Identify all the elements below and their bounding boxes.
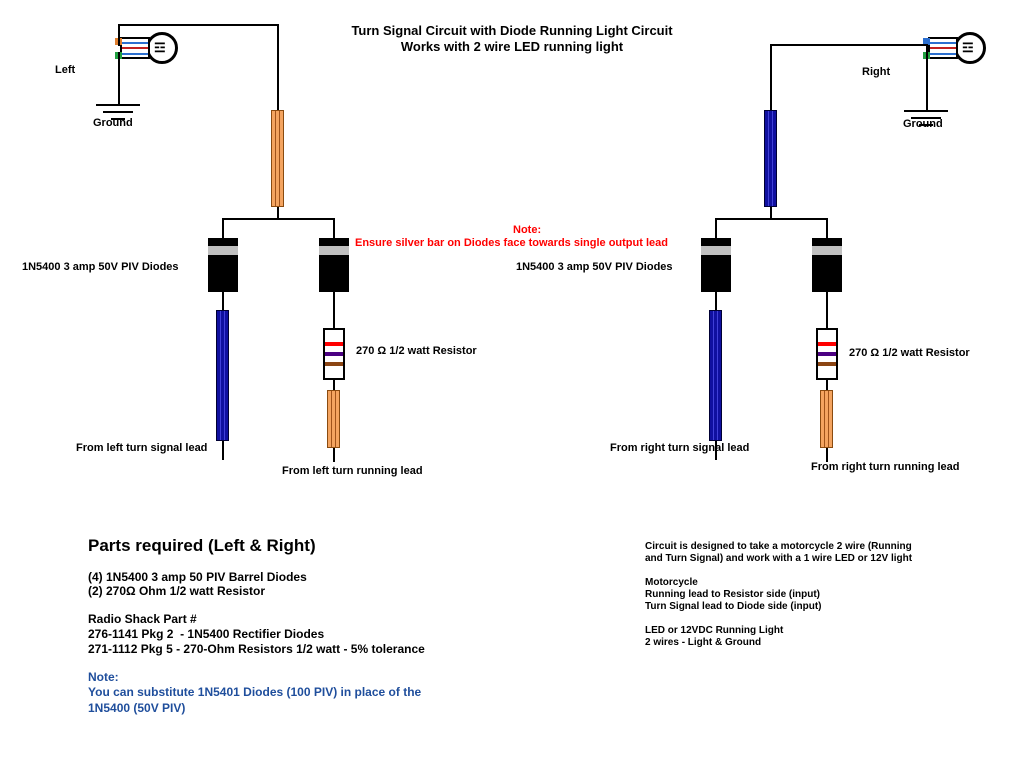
right-resistor-band-red	[818, 342, 836, 346]
right-diode-b-leg-wire	[826, 218, 828, 238]
right-output-blue-sleeve	[764, 110, 777, 207]
info-motorcycle-heading: Motorcycle	[645, 577, 698, 589]
left-running-orange-sleeve	[327, 390, 340, 448]
left-diode-label: 1N5400 3 amp 50V PIV Diodes	[22, 261, 179, 274]
circuit-diagram-canvas: Turn Signal Circuit with Diode Running L…	[0, 0, 1024, 768]
left-ground-symbol-bar-2	[103, 111, 133, 113]
right-resistor-icon	[816, 328, 838, 380]
left-lamp-stripe-red	[122, 47, 148, 49]
right-top-horizontal-wire	[770, 44, 928, 46]
left-ground-wire	[118, 52, 120, 104]
left-diode-a-leg-wire	[222, 218, 224, 238]
left-resistor-band-purple	[325, 352, 343, 356]
left-junction-bar	[222, 218, 334, 220]
left-output-orange-sleeve	[271, 110, 284, 207]
info-motorcycle-line-1: Turn Signal lead to Diode side (input)	[645, 601, 821, 613]
parts-note-heading: Note:	[88, 671, 119, 685]
left-lamp-icon: ☲	[110, 30, 182, 70]
info-led-line-0: 2 wires - Light & Ground	[645, 637, 761, 649]
center-note-body: Ensure silver bar on Diodes face towards…	[355, 237, 668, 250]
parts-heading: Parts required (Left & Right)	[88, 536, 316, 556]
left-running-lead-label: From left turn running lead	[282, 465, 423, 478]
right-diode-a-silver-band	[701, 246, 731, 255]
parts-note-line-0: You can substitute 1N5401 Diodes (100 PI…	[88, 686, 421, 700]
right-junction-bar	[715, 218, 827, 220]
left-lamp-filament-icon: ☲	[154, 41, 168, 55]
center-note-heading: Note:	[513, 224, 541, 237]
parts-supplier-item-1: 271-1112 Pkg 5 - 270-Ohm Resistors 1/2 w…	[88, 643, 425, 657]
left-lamp-stripe-blue-2	[122, 53, 148, 55]
left-signal-lead-label: From left turn signal lead	[76, 442, 207, 455]
right-ground-symbol-bar-1	[904, 110, 948, 112]
info-led-heading: LED or 12VDC Running Light	[645, 625, 783, 637]
right-resistor-band-brown	[818, 362, 836, 366]
left-diode-a-silver-band	[208, 246, 238, 255]
right-diode-a-leg-wire	[715, 218, 717, 238]
info-intro-line-0: Circuit is designed to take a motorcycle…	[645, 541, 912, 553]
left-resistor-label: 270 Ω 1/2 watt Resistor	[356, 345, 477, 358]
right-resistor-band-purple	[818, 352, 836, 356]
right-lamp-top-riser-wire	[926, 44, 928, 58]
parts-item-1: (2) 270Ω Ohm 1/2 watt Resistor	[88, 585, 265, 599]
left-signal-blue-sleeve	[216, 310, 229, 441]
info-motorcycle-line-0: Running lead to Resistor side (input)	[645, 589, 820, 601]
right-running-lead-label: From right turn running lead	[811, 461, 960, 474]
right-signal-blue-sleeve	[709, 310, 722, 441]
right-resistor-label: 270 Ω 1/2 watt Resistor	[849, 347, 970, 360]
left-lamp-stripe-blue	[122, 42, 148, 44]
parts-supplier-item-0: 276-1141 Pkg 2 - 1N5400 Rectifier Diodes	[88, 628, 324, 642]
left-diode-b-leg-wire	[333, 218, 335, 238]
right-running-orange-sleeve	[820, 390, 833, 448]
right-signal-lead-label: From right turn signal lead	[610, 442, 749, 455]
right-side-label: Right	[862, 66, 890, 79]
right-ground-label: Ground	[903, 118, 943, 131]
right-diode-label: 1N5400 3 amp 50V PIV Diodes	[516, 261, 673, 274]
right-ground-wire	[926, 58, 928, 110]
left-resistor-band-brown	[325, 362, 343, 366]
parts-item-0: (4) 1N5400 3 amp 50 PIV Barrel Diodes	[88, 571, 307, 585]
right-lamp-filament-icon: ☲	[962, 41, 976, 55]
left-ground-label: Ground	[93, 117, 133, 130]
left-side-label: Left	[55, 64, 75, 77]
info-intro-line-1: and Turn Signal) and work with a 1 wire …	[645, 553, 912, 565]
right-lamp-stripe-blue	[930, 42, 956, 44]
left-lamp-top-riser-wire	[118, 24, 120, 46]
right-diode-b-silver-band	[812, 246, 842, 255]
left-top-horizontal-wire	[118, 24, 278, 26]
right-lamp-icon: ☲	[918, 30, 990, 70]
left-resistor-icon	[323, 328, 345, 380]
right-lamp-stripe-blue-2	[930, 53, 956, 55]
right-lamp-stripe-red	[930, 47, 956, 49]
parts-supplier-heading: Radio Shack Part #	[88, 613, 197, 627]
parts-note-line-1: 1N5400 (50V PIV)	[88, 702, 185, 716]
left-resistor-band-red	[325, 342, 343, 346]
left-diode-b-silver-band	[319, 246, 349, 255]
left-ground-symbol-bar-1	[96, 104, 140, 106]
